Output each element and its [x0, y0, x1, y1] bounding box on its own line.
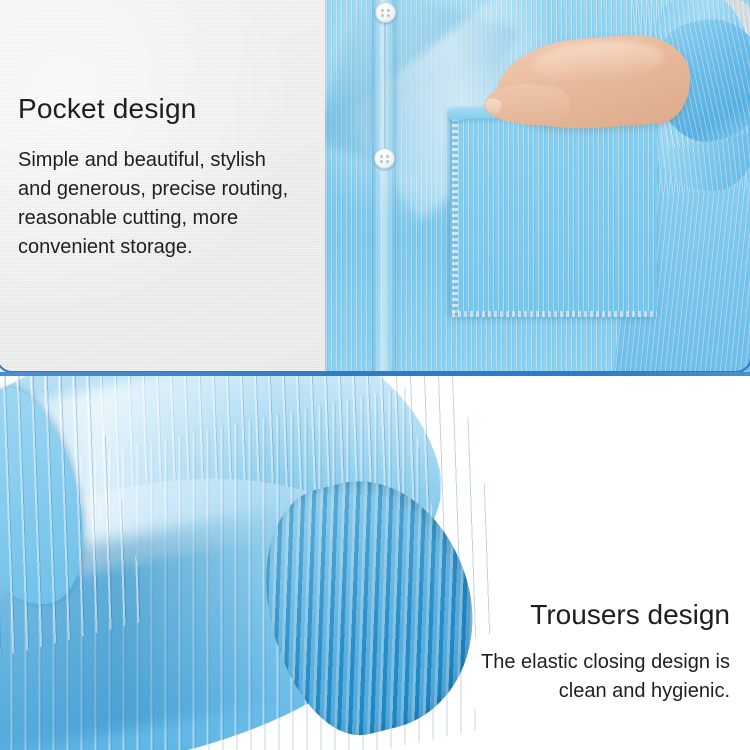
pocket-description: Simple and beautiful, stylish and genero…	[18, 146, 318, 262]
pocket-bottom-stitching	[452, 311, 657, 317]
pocket-heading: Pocket design	[18, 92, 318, 126]
pocket-text-block: Pocket design Simple and beautiful, styl…	[18, 92, 318, 262]
shirt-button-top	[375, 2, 396, 23]
pocket-stripe-texture	[452, 112, 657, 317]
pocket-text-panel: Pocket design Simple and beautiful, styl…	[0, 0, 325, 373]
shirt-pocket-photo	[325, 0, 750, 373]
pocket-description-line-3: reasonable cutting, more	[18, 204, 318, 233]
trousers-text-block: Trousers design The elastic closing desi…	[300, 598, 730, 706]
infographic-page: Pocket design Simple and beautiful, styl…	[0, 0, 750, 750]
cuff-front-fold	[0, 377, 103, 619]
knuckle-highlight	[532, 37, 664, 86]
chest-pocket	[450, 110, 657, 317]
shirt-button-bottom	[374, 148, 395, 169]
trousers-description: The elastic closing design is clean and …	[300, 648, 730, 706]
placket-stitching	[384, 18, 386, 148]
pocket-description-line-1: Simple and beautiful, stylish	[18, 146, 318, 175]
pocket-description-line-4: convenient storage.	[18, 233, 318, 262]
pocket-design-section: Pocket design Simple and beautiful, styl…	[0, 0, 750, 373]
trousers-heading: Trousers design	[300, 598, 730, 632]
pocket-side-stitching	[452, 112, 458, 317]
trousers-description-line-2: clean and hygienic.	[300, 677, 730, 706]
pocket-description-line-2: and generous, precise routing,	[18, 175, 318, 204]
trousers-design-section: Trousers design The elastic closing desi…	[0, 376, 750, 750]
trousers-description-line-1: The elastic closing design is	[300, 648, 730, 677]
section-divider	[0, 372, 750, 376]
